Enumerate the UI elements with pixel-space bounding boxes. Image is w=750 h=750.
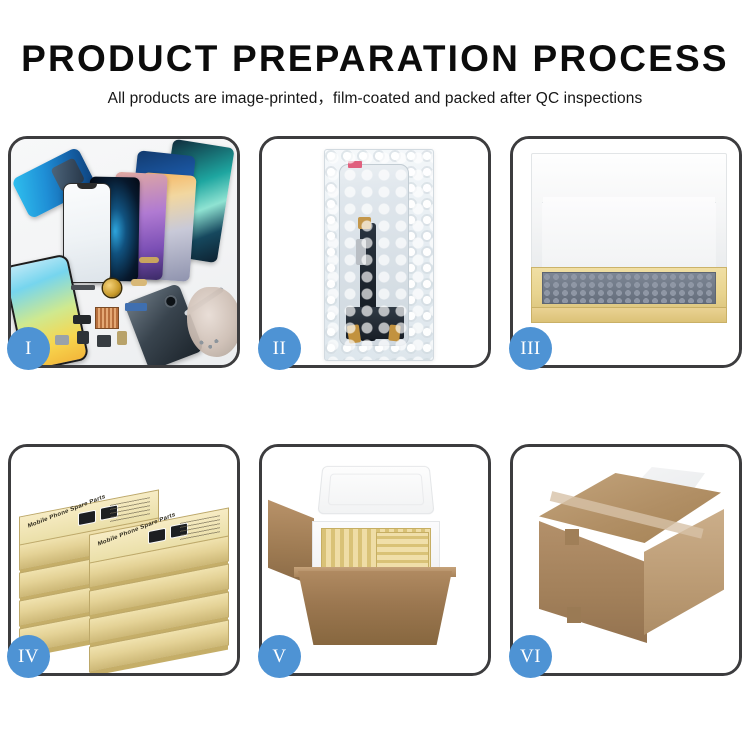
bubble-wrap-bag	[324, 149, 434, 361]
step-panel-6: VI	[510, 444, 742, 676]
flex-cable-blue-part	[125, 303, 147, 311]
box-spec-lines-right	[180, 515, 220, 541]
vibrator-part	[97, 335, 111, 347]
box-spec-lines-left	[110, 497, 150, 523]
foam-box-lid	[317, 466, 434, 514]
page-title: PRODUCT PREPARATION PROCESS	[0, 40, 750, 77]
antenna-flex-part	[139, 257, 159, 263]
chip-grid-part	[95, 307, 119, 329]
box-product-photo-a	[78, 510, 96, 526]
step-badge-1: I	[7, 327, 50, 370]
step-panel-1: I	[8, 136, 240, 368]
carton-tape-patch-upper	[565, 529, 579, 545]
step-panel-5: V	[259, 444, 491, 676]
page-subtitle: All products are image-printed，film-coat…	[0, 91, 750, 107]
connector-part	[77, 331, 89, 344]
step-badge-5: V	[258, 635, 301, 678]
product-preparation-infographic: PRODUCT PREPARATION PROCESS All products…	[0, 0, 750, 750]
step-badge-3: III	[509, 327, 552, 370]
foam-sheet	[543, 197, 715, 261]
step-badge-6: VI	[509, 635, 552, 678]
lcd-screen-assembly	[339, 164, 409, 346]
box-product-photo-c	[148, 528, 166, 544]
pink-label-sticker	[348, 161, 362, 168]
flex-shield-plate	[356, 239, 366, 265]
step-badge-4: IV	[7, 635, 50, 678]
process-steps-grid: I II	[8, 136, 742, 686]
step-1-image	[11, 139, 237, 365]
bubble-wrapped-contents	[542, 272, 716, 304]
step-5-image	[262, 447, 488, 673]
yellow-boxes-row-back	[376, 532, 429, 572]
gold-connector-right	[388, 324, 401, 341]
carton-tape-patch-lower	[567, 607, 581, 623]
gold-connector-upper	[358, 217, 371, 229]
step-4-image: Mobile Phone Spare Parts Mobile Phone Sp…	[11, 447, 237, 673]
bracket-part	[55, 335, 69, 345]
step-2-image	[262, 139, 488, 365]
speaker-coil-part	[103, 279, 121, 297]
camera-module-part	[73, 315, 91, 324]
sim-tray-part	[117, 331, 127, 345]
gold-connector-left	[347, 324, 361, 343]
box-front-panel	[531, 307, 727, 323]
flex-cable-gold-part	[131, 279, 147, 286]
step-panel-3: III	[510, 136, 742, 368]
step-panel-4: Mobile Phone Spare Parts Mobile Phone Sp…	[8, 444, 240, 676]
step-6-image	[513, 447, 739, 673]
step-3-image	[513, 139, 739, 365]
step-panel-2: II	[259, 136, 491, 368]
screws-part	[197, 337, 219, 351]
connector-board	[346, 307, 404, 339]
box-stack: Mobile Phone Spare Parts Mobile Phone Sp…	[17, 465, 237, 661]
header: PRODUCT PREPARATION PROCESS All products…	[0, 0, 750, 107]
earpiece-part	[71, 285, 95, 290]
carton-body	[298, 571, 452, 645]
step-badge-2: II	[258, 327, 301, 370]
